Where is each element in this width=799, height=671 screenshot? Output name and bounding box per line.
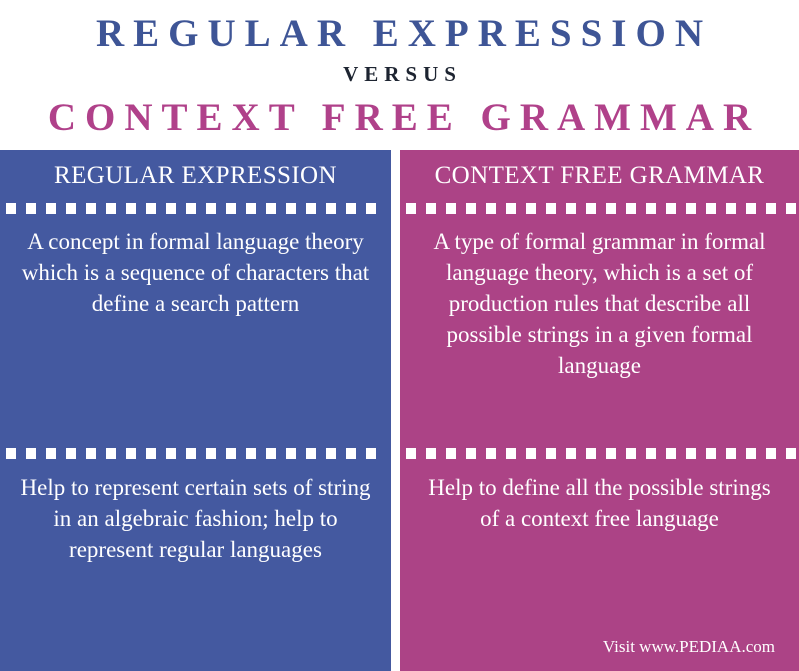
comparison-column-context-free-grammar: CONTEXT FREE GRAMMAR A type of formal gr…	[400, 150, 799, 671]
dashed-divider-top	[0, 203, 391, 214]
dash-segment	[166, 203, 176, 214]
comparison-column-regular-expression: REGULAR EXPRESSION A concept in formal l…	[0, 150, 391, 671]
dash-segment	[306, 448, 316, 459]
dash-segment	[766, 448, 776, 459]
dash-segment	[726, 448, 736, 459]
dash-segment	[426, 448, 436, 459]
dash-segment	[366, 448, 376, 459]
dash-segment	[146, 203, 156, 214]
dash-segment	[246, 203, 256, 214]
column-definition-text: A concept in formal language theory whic…	[0, 226, 391, 319]
dash-segment	[706, 448, 716, 459]
column-comparison-text: Help to represent certain sets of string…	[0, 472, 391, 565]
dash-segment	[686, 203, 696, 214]
dash-segment	[66, 203, 76, 214]
dash-segment	[106, 448, 116, 459]
dash-segment	[126, 448, 136, 459]
dash-segment	[206, 448, 216, 459]
dash-segment	[526, 448, 536, 459]
dash-segment	[26, 203, 36, 214]
dash-segment	[266, 448, 276, 459]
dash-segment	[606, 448, 616, 459]
dash-segment	[626, 203, 636, 214]
dash-segment	[546, 448, 556, 459]
dash-segment	[46, 203, 56, 214]
dash-segment	[406, 203, 416, 214]
dash-segment	[266, 203, 276, 214]
dash-segment	[46, 448, 56, 459]
dash-segment	[746, 203, 756, 214]
dash-segment	[486, 448, 496, 459]
dash-segment	[686, 448, 696, 459]
column-definition-text: A type of formal grammar in formal langu…	[400, 226, 799, 381]
dash-segment	[446, 203, 456, 214]
title-block: REGULAR EXPRESSION VERSUS CONTEXT FREE G…	[0, 0, 799, 150]
dash-segment	[406, 448, 416, 459]
dash-segment	[186, 448, 196, 459]
dash-segment	[366, 203, 376, 214]
dash-segment	[626, 448, 636, 459]
dash-segment	[66, 448, 76, 459]
comparison-infographic: REGULAR EXPRESSION VERSUS CONTEXT FREE G…	[0, 0, 799, 671]
dash-segment	[446, 448, 456, 459]
dash-segment	[286, 448, 296, 459]
dash-segment	[146, 448, 156, 459]
dash-segment	[586, 203, 596, 214]
dashed-divider-middle	[400, 448, 799, 459]
dash-segment	[306, 203, 316, 214]
dash-segment	[326, 448, 336, 459]
dash-segment	[6, 448, 16, 459]
dash-segment	[106, 203, 116, 214]
dashed-divider-middle	[0, 448, 391, 459]
dash-segment	[326, 203, 336, 214]
source-credit: Visit www.PEDIAA.com	[603, 637, 775, 657]
page-title-primary: REGULAR EXPRESSION	[0, 12, 799, 56]
dash-segment	[426, 203, 436, 214]
dash-segment	[6, 203, 16, 214]
dash-segment	[666, 203, 676, 214]
dash-segment	[546, 203, 556, 214]
dash-segment	[486, 203, 496, 214]
dash-segment	[346, 448, 356, 459]
dash-segment	[726, 203, 736, 214]
dash-segment	[86, 203, 96, 214]
dash-segment	[226, 448, 236, 459]
dash-segment	[746, 448, 756, 459]
column-header-label: CONTEXT FREE GRAMMAR	[400, 150, 799, 202]
dash-segment	[186, 203, 196, 214]
dash-segment	[346, 203, 356, 214]
dash-segment	[506, 448, 516, 459]
dash-segment	[526, 203, 536, 214]
dash-segment	[606, 203, 616, 214]
dash-segment	[206, 203, 216, 214]
dash-segment	[466, 448, 476, 459]
dashed-divider-top	[400, 203, 799, 214]
dash-segment	[766, 203, 776, 214]
dash-segment	[26, 448, 36, 459]
dash-segment	[166, 448, 176, 459]
dash-segment	[646, 203, 656, 214]
dash-segment	[506, 203, 516, 214]
column-header-label: REGULAR EXPRESSION	[0, 150, 391, 202]
dash-segment	[566, 203, 576, 214]
dash-segment	[706, 203, 716, 214]
dash-segment	[246, 448, 256, 459]
column-comparison-text: Help to define all the possible strings …	[400, 472, 799, 534]
dash-segment	[666, 448, 676, 459]
dash-segment	[86, 448, 96, 459]
dash-segment	[126, 203, 136, 214]
dash-segment	[226, 203, 236, 214]
dash-segment	[586, 448, 596, 459]
dash-segment	[646, 448, 656, 459]
page-title-secondary: CONTEXT FREE GRAMMAR	[0, 96, 799, 140]
dash-segment	[466, 203, 476, 214]
dash-segment	[786, 448, 796, 459]
dash-segment	[786, 203, 796, 214]
dash-segment	[286, 203, 296, 214]
page-title-versus: VERSUS	[0, 62, 799, 86]
dash-segment	[566, 448, 576, 459]
